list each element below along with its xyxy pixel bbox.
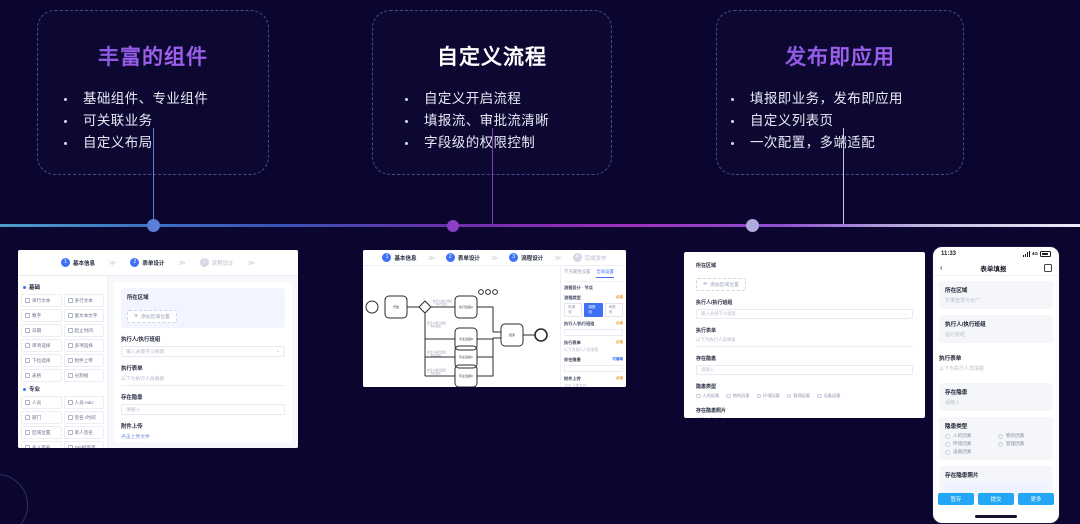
photo-upload-area[interactable]	[945, 482, 1047, 493]
chevron-right-icon: ≫	[554, 254, 561, 262]
decorative-circle	[0, 474, 28, 524]
component-icon	[68, 343, 73, 348]
step-number: 3	[200, 258, 209, 267]
card-bullet-list: 填报即业务，发布即应用 自定义列表页 一次配置，多端适配	[717, 88, 963, 154]
slide-canvas: 丰富的组件 基础组件、专业组件 可关联业务 自定义布局 自定义流程 自定义开启流…	[0, 0, 1080, 524]
field-exec-form: 执行表单必填 以下为执行人员填报	[564, 340, 623, 353]
node-label: 开始	[393, 304, 399, 309]
step-label: 基本信息	[394, 254, 416, 262]
network-label: 4G	[1032, 251, 1038, 256]
hazard-input[interactable]	[564, 365, 623, 372]
bullet-dot-icon	[731, 120, 734, 123]
bullet-dot-icon	[405, 98, 408, 101]
bullet-dot-icon	[64, 120, 67, 123]
bullet-dot-icon	[731, 142, 734, 145]
field-flow-type: 流程类型必填 申请流 填报流 审批流	[564, 295, 623, 317]
mobile-field-region[interactable]: 所在区域 芒果智慧污水厂	[939, 281, 1053, 309]
field-label: 隐患类型	[696, 383, 913, 390]
palette-item[interactable]: 下拉选择	[21, 354, 62, 367]
screenshot-form-builder: 1 基本信息 ≫ 2 表单设计 ≫ 3 流程设计 ≫ 基础 单	[18, 250, 298, 448]
palette-item[interactable]: 多行文本	[64, 294, 105, 307]
end-event-icon	[535, 329, 547, 341]
component-icon	[25, 328, 30, 333]
step-label: 流程设计	[521, 254, 543, 262]
radio-option[interactable]: 环境因素	[945, 441, 994, 447]
field-label: 所在区域	[696, 262, 913, 269]
field-hint: 以下为执行人员填报	[696, 337, 913, 347]
wizard-step-basic-info[interactable]: 1 基本信息	[382, 253, 416, 262]
field-label: 所在区域	[127, 293, 279, 301]
radio-option[interactable]: 设备因素	[817, 393, 840, 399]
panel-tabs: 节点属性设置 全局设置	[564, 269, 623, 282]
battery-icon	[1040, 251, 1051, 257]
svg-text:一 专业班组: 一 专业班组	[427, 371, 441, 375]
component-icon	[68, 358, 73, 363]
component-icon	[68, 328, 73, 333]
step-number: 3	[509, 253, 518, 262]
bullet-dot-icon	[405, 142, 408, 145]
component-icon	[68, 313, 73, 318]
screenshot-form-preview: 所在区域 ⊕ 添加区域位置 执行人/执行班组 输入关键字以搜索 ⌄ 执行表单 以…	[684, 252, 925, 418]
list-item: 可关联业务	[64, 110, 268, 132]
chevron-right-icon: ≫	[427, 254, 434, 262]
bullet-dot-icon	[731, 98, 734, 101]
action-bar: 暂存 提交 更多	[933, 493, 1059, 505]
connector-line-2	[492, 128, 493, 226]
step-label: 完成发布	[585, 254, 607, 262]
bullet-text: 一次配置，多端适配	[750, 132, 875, 154]
palette-item[interactable]: 人员+abc	[64, 396, 105, 409]
gateway-icon	[419, 301, 431, 313]
upload-link[interactable]: 点击上传文件	[696, 417, 913, 418]
node-properties-panel: 节点属性设置 全局设置 流程设计 · 节点 流程类型必填 申请流 填报流 审批流…	[560, 266, 626, 387]
palette-item[interactable]: 数字	[21, 309, 62, 322]
radio-icon	[998, 434, 1003, 439]
field-upload: 附件上传必填 点击上传文件	[564, 376, 623, 387]
bullet-dot-icon	[64, 98, 67, 101]
upload-link[interactable]: 点击上传文件	[121, 433, 285, 440]
component-icon	[25, 445, 30, 448]
nav-bar: ‹ 表单填报	[933, 260, 1059, 276]
field-label: 隐患类型	[121, 447, 285, 448]
field-label: 存在隐患	[121, 393, 285, 401]
palette-grid-basic: 单行文本 多行文本 数字 富文本文字 日期 起止时间 单项选择 多项选择 下拉选…	[21, 294, 104, 382]
palette-item[interactable]: 起止时间	[64, 324, 105, 337]
step-number: 2	[130, 258, 139, 267]
palette-item[interactable]: 单项选择	[21, 339, 62, 352]
component-icon	[25, 400, 30, 405]
field-label: 所在区域	[945, 286, 1047, 294]
chevron-right-icon: ≫	[491, 254, 498, 262]
field-region: 所在区域 ⊕ 添加区域位置	[121, 288, 285, 328]
bullet-text: 自定义布局	[83, 132, 153, 154]
radio-group[interactable]: 人的因素 物的因素 环境因素 管理因素 设备因素	[945, 433, 1047, 455]
palette-item[interactable]: 附件上传	[64, 354, 105, 367]
radio-icon	[726, 394, 731, 399]
mobile-field-exec-form: 执行表单 以下为执行人员填报	[939, 349, 1053, 377]
mobile-field-hazard-type[interactable]: 隐患类型 人的因素 物的因素 环境因素 管理因素 设备因素	[939, 417, 1053, 460]
group-dot-icon	[23, 388, 26, 391]
component-icon	[68, 373, 73, 378]
svg-text:一 专业班组: 一 专业班组	[427, 353, 441, 357]
node-label: 结束	[509, 332, 515, 337]
palette-item[interactable]: 富文本文字	[64, 309, 105, 322]
hazard-input[interactable]: 请输入	[121, 404, 285, 415]
field-placeholder: 请输入	[945, 399, 1047, 406]
card-title: 自定义流程	[373, 41, 611, 71]
radio-icon	[998, 442, 1003, 447]
bullet-text: 填报即业务，发布即应用	[750, 88, 903, 110]
screenshot-flow-designer: 1 基本信息 ≫ 2 表单设计 ≫ 3 流程设计 ≫ 4 完成发布	[363, 250, 626, 387]
list-item: 自定义列表页	[731, 110, 963, 132]
component-icon	[25, 430, 30, 435]
wizard-step-process-design[interactable]: 3 流程设计	[509, 253, 543, 262]
component-icon	[68, 400, 73, 405]
field-hint: 以下为执行人员填报	[121, 375, 285, 386]
step-label: 流程设计	[212, 259, 234, 267]
start-event-icon	[366, 301, 378, 313]
field-label: 执行表单	[696, 327, 913, 334]
palette-item[interactable]: 区域位置	[21, 426, 62, 439]
component-icon	[25, 343, 30, 348]
step-label: 表单设计	[142, 259, 164, 267]
field-label: 存在隐患照片	[945, 471, 1047, 479]
field-hazard: 存在隐患可编辑	[564, 357, 623, 372]
radio-option[interactable]: 管理因素	[998, 441, 1047, 447]
node-label: 专业班组D	[459, 373, 474, 378]
node-label: 执行班组A	[459, 304, 473, 309]
form-canvas: 所在区域 ⊕ 添加区域位置 执行人/执行班组 输入关键字以搜索 ⌄ 执行表单 以…	[108, 276, 298, 448]
add-region-button[interactable]: ⊕ 添加区域位置	[127, 310, 177, 323]
wizard-steps: 1 基本信息 ≫ 2 表单设计 ≫ 3 流程设计 ≫ 4 完成发布	[363, 250, 626, 266]
step-number: 4	[573, 253, 582, 262]
radio-icon	[817, 394, 822, 399]
chevron-down-icon: ⌄	[904, 311, 908, 317]
palette-item[interactable]: Tab标签页	[64, 441, 105, 448]
field-label: 隐患类型	[945, 422, 1047, 430]
radio-option[interactable]: 设备因素	[945, 449, 994, 455]
field-label: 附件上传	[121, 422, 285, 430]
card-title: 发布即应用	[717, 41, 963, 71]
add-region-button[interactable]: ⊕ 添加区域位置	[696, 278, 746, 291]
executor-select[interactable]: 输入关键字以搜索 ⌄	[696, 309, 913, 319]
radio-icon	[696, 394, 701, 399]
field-label: 执行人/执行班组	[696, 299, 913, 306]
step-label: 基本信息	[73, 259, 95, 267]
radio-option[interactable]: 物的因素	[998, 433, 1047, 439]
bullet-text: 自定义列表页	[750, 110, 833, 132]
more-button[interactable]: 更多	[1018, 493, 1054, 505]
status-bar: 11:33 4G	[933, 247, 1059, 260]
palette-item[interactable]: 单行文本	[21, 294, 62, 307]
radio-icon	[757, 394, 762, 399]
field-executor: 执行人/执行班组必填	[564, 321, 623, 336]
radio-option[interactable]: 管理因素	[787, 393, 810, 399]
connector-line-1	[153, 128, 154, 226]
step-label: 表单设计	[458, 254, 480, 262]
wizard-step-publish[interactable]: 4 完成发布	[573, 253, 607, 262]
bpmn-diagram: 执行人/执行班组一 执行班组 执行人/执行班组一 专业班组 执行人/执行班组一 …	[363, 266, 559, 387]
timeline-node-3	[746, 219, 759, 232]
list-item: 自定义开启流程	[405, 88, 611, 110]
bpmn-canvas[interactable]: 执行人/执行班组一 执行班组 执行人/执行班组一 专业班组 执行人/执行班组一 …	[363, 266, 560, 387]
executor-select[interactable]: 输入关键字以搜索 ⌄	[121, 346, 285, 357]
component-icon	[68, 430, 73, 435]
signal-icon	[1023, 251, 1030, 257]
wizard-step-process-design[interactable]: 3 流程设计	[200, 258, 234, 267]
field-hint: 以下为执行人员填报	[939, 365, 1053, 372]
component-icon	[25, 358, 30, 363]
panel-subtitle: 流程设计 · 节点	[564, 285, 623, 291]
edit-icon[interactable]	[1044, 264, 1052, 272]
bullet-text: 可关联业务	[83, 110, 153, 132]
palette-item[interactable]: 单人签名	[64, 426, 105, 439]
wizard-step-form-design[interactable]: 2 表单设计	[130, 258, 164, 267]
chevron-left-icon[interactable]: ‹	[940, 263, 943, 272]
radio-option[interactable]: 人的因素	[696, 393, 719, 399]
node-label: 专业班组C	[459, 354, 474, 359]
clock: 11:33	[941, 251, 956, 257]
bullet-text: 基础组件、专业组件	[83, 88, 208, 110]
timeline-bar	[0, 224, 1080, 227]
field-value: 运行班组	[945, 331, 1047, 338]
palette-item[interactable]: 部门	[21, 411, 62, 424]
palette-group-professional: 专业	[23, 385, 104, 393]
save-draft-button[interactable]: 暂存	[938, 493, 974, 505]
radio-icon	[945, 450, 950, 455]
list-item: 基础组件、专业组件	[64, 88, 268, 110]
svg-text:一 执行班组: 一 执行班组	[433, 302, 447, 306]
plus-circle-icon: ⊕	[134, 314, 138, 319]
component-icon	[25, 415, 30, 420]
component-palette: 基础 单行文本 多行文本 数字 富文本文字 日期 起止时间 单项选择 多项选择 …	[18, 276, 108, 448]
chevron-down-icon: ⌄	[276, 349, 280, 354]
home-indicator	[975, 515, 1017, 518]
palette-grid-professional: 人员 人员+abc 部门 签名+时间 区域位置 单人签名 多人签名 Tab标签页…	[21, 396, 104, 448]
step-number: 2	[446, 253, 455, 262]
bullet-dot-icon	[64, 142, 67, 145]
field-label: 执行人/执行班组	[121, 335, 285, 343]
component-icon	[68, 415, 73, 420]
component-icon	[68, 445, 73, 448]
palette-item[interactable]: 分割线	[64, 369, 105, 382]
component-icon	[25, 373, 30, 378]
palette-item[interactable]: 多项选择	[64, 339, 105, 352]
field-label: 存在隐患	[945, 388, 1047, 396]
segmented-control[interactable]: 申请流 填报流 审批流	[564, 303, 623, 317]
mobile-field-hazard[interactable]: 存在隐患 请输入	[939, 383, 1053, 411]
radio-option[interactable]: 物的因素	[726, 393, 749, 399]
list-item: 填报流、审批流清晰	[405, 110, 611, 132]
page-title: 表单填报	[980, 263, 1006, 273]
chevron-right-icon: ≫	[178, 259, 185, 267]
mobile-field-executor[interactable]: 执行人/执行班组 运行班组	[939, 315, 1053, 343]
node-label: 专业班组B	[459, 336, 473, 341]
radio-icon	[787, 394, 792, 399]
field-label: 存在隐患照片	[696, 407, 913, 414]
group-label: 基础	[29, 283, 40, 291]
bullet-dot-icon	[405, 120, 408, 123]
radio-option[interactable]: 人的因素	[945, 433, 994, 439]
timeline-node-1	[147, 219, 160, 232]
field-label: 执行表单	[121, 364, 285, 372]
component-icon	[25, 298, 30, 303]
palette-item[interactable]: 签名+时间	[64, 411, 105, 424]
palette-item[interactable]: 人员	[21, 396, 62, 409]
hazard-input[interactable]: 请输入	[696, 365, 913, 375]
timeline-node-2	[447, 220, 459, 232]
wizard-step-form-design[interactable]: 2 表单设计	[446, 253, 480, 262]
bullet-text: 自定义开启流程	[424, 88, 521, 110]
palette-item[interactable]: 日期	[21, 324, 62, 337]
group-label: 专业	[29, 385, 40, 393]
radio-group[interactable]: 人的因素 物的因素 环境因素 管理因素 设备因素	[696, 393, 913, 399]
palette-item[interactable]: 表格	[21, 369, 62, 382]
tab-global-settings[interactable]: 全局设置	[596, 269, 614, 278]
field-label: 执行表单	[939, 354, 1053, 362]
form-scroll-area[interactable]: 所在区域 芒果智慧污水厂 执行人/执行班组 运行班组 执行表单 以下为执行人员填…	[933, 276, 1059, 494]
field-label: 存在隐患	[696, 355, 913, 362]
radio-icon	[945, 442, 950, 447]
svg-text:一 专业班组: 一 专业班组	[427, 324, 441, 328]
palette-item[interactable]: 多人签名	[21, 441, 62, 448]
executor-select[interactable]	[564, 329, 623, 336]
palette-group-basic: 基础	[23, 283, 104, 291]
field-value: 芒果智慧污水厂	[945, 297, 1047, 304]
list-item: 自定义布局	[64, 132, 268, 154]
chevron-right-icon: ≫	[248, 259, 255, 267]
feature-card-publish: 发布即应用 填报即业务，发布即应用 自定义列表页 一次配置，多端适配	[716, 10, 964, 175]
wizard-steps: 1 基本信息 ≫ 2 表单设计 ≫ 3 流程设计 ≫	[18, 250, 298, 276]
list-item: 填报即业务，发布即应用	[731, 88, 963, 110]
component-icon	[25, 313, 30, 318]
chevron-right-icon: ≫	[109, 259, 116, 267]
field-label: 执行人/执行班组	[945, 320, 1047, 328]
bullet-text: 字段级的权限控制	[424, 132, 535, 154]
wizard-step-basic-info[interactable]: 1 基本信息	[61, 258, 95, 267]
list-item: 字段级的权限控制	[405, 132, 611, 154]
mobile-preview: 11:33 4G ‹ 表单填报 所在区域 芒果智慧污水厂 执行人/执行班组 运行…	[932, 246, 1060, 524]
step-number: 1	[382, 253, 391, 262]
plus-circle-icon: ⊕	[703, 282, 707, 287]
component-icon	[68, 298, 73, 303]
bullet-text: 填报流、审批流清晰	[424, 110, 549, 132]
submit-button[interactable]: 提交	[978, 493, 1014, 505]
step-number: 1	[61, 258, 70, 267]
connector-line-3	[843, 128, 844, 226]
radio-option[interactable]: 环境因素	[757, 393, 780, 399]
group-dot-icon	[23, 286, 26, 289]
list-item: 一次配置，多端适配	[731, 132, 963, 154]
card-title: 丰富的组件	[38, 41, 268, 71]
tab-node-properties[interactable]: 节点属性设置	[564, 269, 590, 278]
radio-icon	[945, 434, 950, 439]
